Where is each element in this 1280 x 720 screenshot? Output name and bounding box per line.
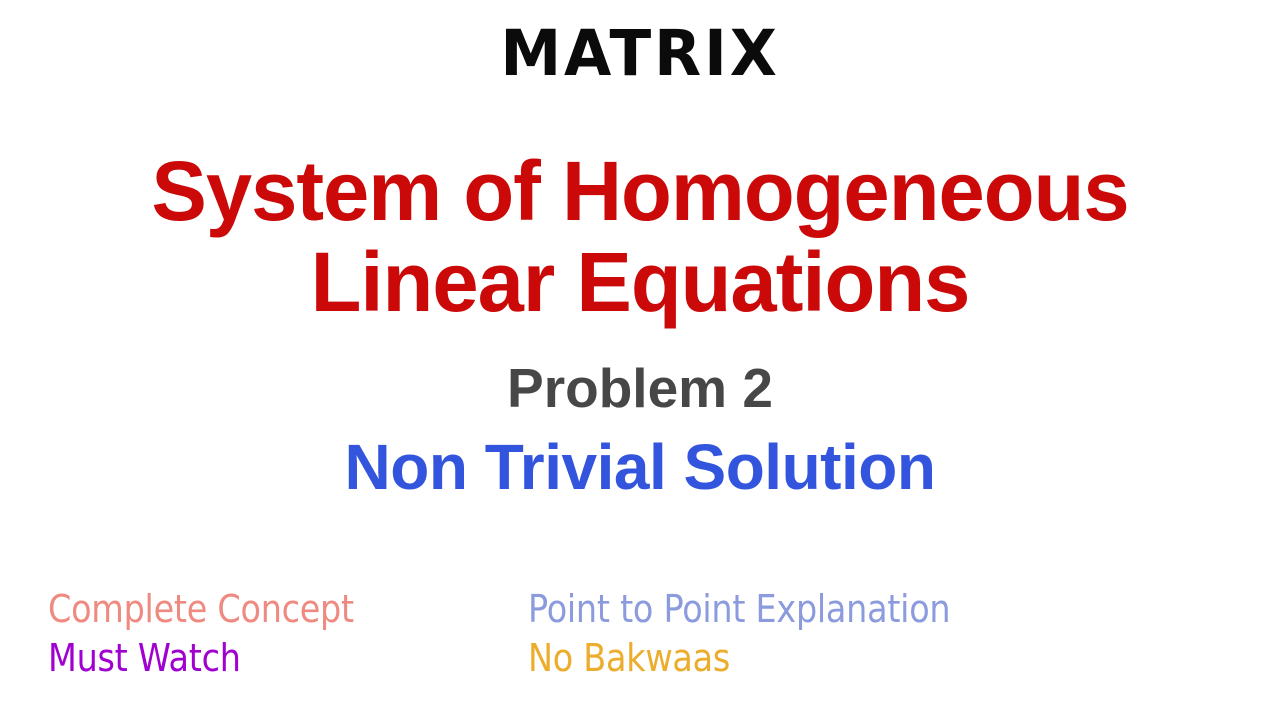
tagline-complete-concept: Complete Concept: [48, 588, 470, 632]
tagline-point-to-point-explanation: Point to Point Explanation: [528, 588, 1074, 632]
title-slide: MATRIX System of Homogeneous Linear Equa…: [0, 0, 1280, 720]
tagline-row: Must Watch No Bakwaas: [48, 637, 1148, 681]
page-title: System of Homogeneous Linear Equations: [0, 146, 1280, 327]
problem-label: Problem 2: [0, 358, 1280, 419]
solution-type: Non Trivial Solution: [0, 432, 1280, 502]
problem-label-text: Problem 2: [507, 358, 773, 419]
brand-logo: MATRIX: [0, 22, 1280, 85]
brand-logo-text: MATRIX: [500, 22, 779, 85]
solution-type-text: Non Trivial Solution: [345, 432, 936, 502]
page-title-line-2: Linear Equations: [6, 237, 1273, 328]
tagline-group: Complete Concept Point to Point Explanat…: [48, 588, 1148, 680]
tagline-row: Complete Concept Point to Point Explanat…: [48, 588, 1148, 632]
tagline-no-bakwaas: No Bakwaas: [528, 637, 1074, 681]
tagline-must-watch: Must Watch: [48, 637, 470, 681]
page-title-line-1: System of Homogeneous: [6, 146, 1273, 237]
